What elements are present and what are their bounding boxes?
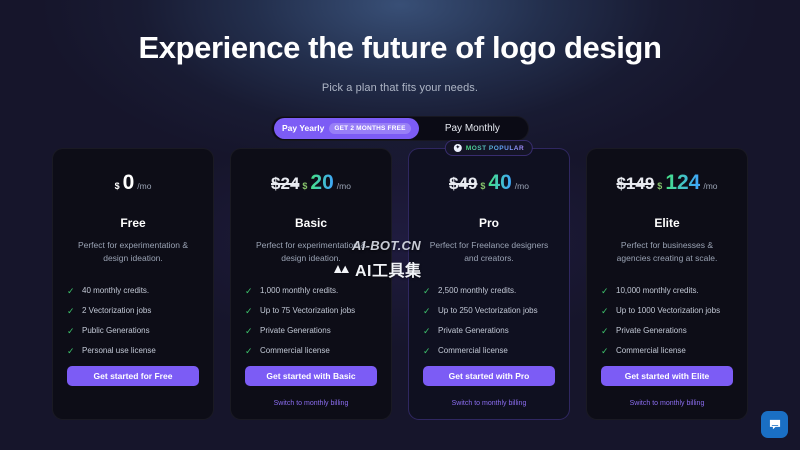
plan-description: Perfect for Freelance designers and crea… [423, 239, 555, 265]
feature-label: 1,000 monthly credits. [260, 286, 338, 295]
feature-list: ✓10,000 monthly credits.✓Up to 1000 Vect… [601, 286, 733, 355]
old-price: $149 [616, 174, 654, 194]
pricing-cards-container: $0/moFreePerfect for experimentation & d… [0, 148, 800, 420]
most-popular-badge: ✦MOST POPULAR [445, 140, 533, 156]
check-icon: ✓ [423, 327, 431, 335]
feature-list: ✓1,000 monthly credits.✓Up to 75 Vectori… [245, 286, 377, 355]
price-row: $0/mo [67, 171, 199, 199]
toggle-pay-yearly[interactable]: Pay Yearly GET 2 MONTHS FREE [274, 118, 419, 139]
toggle-yearly-label: Pay Yearly [282, 123, 324, 133]
hero-section: Experience the future of logo design Pic… [0, 0, 800, 141]
get-started-button[interactable]: Get started with Pro [423, 366, 555, 386]
price-period: /mo [137, 181, 151, 191]
check-icon: ✓ [67, 327, 75, 335]
check-icon: ✓ [245, 287, 253, 295]
feature-item: ✓Commercial license [423, 346, 555, 355]
feature-label: Up to 1000 Vectorization jobs [616, 306, 720, 315]
feature-item: ✓Up to 75 Vectorization jobs [245, 306, 377, 315]
feature-label: Personal use license [82, 346, 156, 355]
feature-label: Private Generations [616, 326, 687, 335]
plan-name: Basic [245, 216, 377, 230]
check-icon: ✓ [423, 347, 431, 355]
old-price: $49 [449, 174, 477, 194]
feature-list: ✓2,500 monthly credits.✓Up to 250 Vector… [423, 286, 555, 355]
feature-label: 2,500 monthly credits. [438, 286, 516, 295]
plan-name: Elite [601, 216, 733, 230]
check-icon: ✓ [423, 287, 431, 295]
chat-bubble-icon [768, 418, 782, 432]
yearly-discount-badge: GET 2 MONTHS FREE [329, 123, 410, 134]
plan-description: Perfect for experimentation & design ide… [245, 239, 377, 265]
page-title: Experience the future of logo design [0, 30, 800, 66]
current-price: 20 [310, 171, 333, 195]
get-started-button[interactable]: Get started for Free [67, 366, 199, 386]
check-icon: ✓ [245, 347, 253, 355]
feature-item: ✓2 Vectorization jobs [67, 306, 199, 315]
feature-item: ✓10,000 monthly credits. [601, 286, 733, 295]
feature-item: ✓40 monthly credits. [67, 286, 199, 295]
check-icon: ✓ [423, 307, 431, 315]
feature-item: ✓Private Generations [601, 326, 733, 335]
price-period: /mo [515, 181, 529, 191]
feature-item: ✓Private Generations [245, 326, 377, 335]
feature-label: 10,000 monthly credits. [616, 286, 699, 295]
feature-item: ✓1,000 monthly credits. [245, 286, 377, 295]
pricing-page: Experience the future of logo design Pic… [0, 0, 800, 450]
feature-item: ✓Commercial license [601, 346, 733, 355]
billing-period-toggle[interactable]: Pay Yearly GET 2 MONTHS FREE Pay Monthly [271, 116, 529, 141]
get-started-button[interactable]: Get started with Basic [245, 366, 377, 386]
check-icon: ✓ [67, 347, 75, 355]
feature-item: ✓2,500 monthly credits. [423, 286, 555, 295]
feature-item: ✓Commercial license [245, 346, 377, 355]
pricing-card-pro: ✦MOST POPULAR$49$40/moProPerfect for Fre… [408, 148, 570, 420]
check-icon: ✓ [601, 307, 609, 315]
check-icon: ✓ [67, 287, 75, 295]
price-row: $149$124/mo [601, 171, 733, 199]
switch-billing-link[interactable]: Switch to monthly billing [245, 400, 377, 407]
currency-symbol: $ [480, 181, 485, 191]
get-started-button[interactable]: Get started with Elite [601, 366, 733, 386]
switch-billing-link[interactable]: Switch to monthly billing [423, 400, 555, 407]
feature-label: Private Generations [438, 326, 509, 335]
feature-label: Up to 250 Vectorization jobs [438, 306, 538, 315]
feature-label: 2 Vectorization jobs [82, 306, 151, 315]
feature-item: ✓Personal use license [67, 346, 199, 355]
feature-label: Commercial license [616, 346, 686, 355]
plan-description: Perfect for experimentation & design ide… [67, 239, 199, 265]
feature-label: 40 monthly credits. [82, 286, 149, 295]
feature-label: Commercial license [438, 346, 508, 355]
currency-symbol: $ [657, 181, 662, 191]
feature-label: Up to 75 Vectorization jobs [260, 306, 355, 315]
feature-label: Commercial license [260, 346, 330, 355]
check-icon: ✓ [601, 287, 609, 295]
feature-label: Public Generations [82, 326, 150, 335]
check-icon: ✓ [67, 307, 75, 315]
most-popular-label: MOST POPULAR [466, 145, 524, 152]
check-icon: ✓ [245, 307, 253, 315]
pricing-card-free: $0/moFreePerfect for experimentation & d… [52, 148, 214, 420]
toggle-pay-monthly[interactable]: Pay Monthly [419, 118, 526, 139]
current-price: 124 [665, 171, 700, 195]
feature-item: ✓Up to 250 Vectorization jobs [423, 306, 555, 315]
plan-description: Perfect for businesses & agencies creati… [601, 239, 733, 265]
page-subtitle: Pick a plan that fits your needs. [0, 82, 800, 94]
chat-widget-button[interactable] [761, 411, 788, 438]
currency-symbol: $ [115, 181, 120, 191]
plan-name: Pro [423, 216, 555, 230]
current-price: 0 [123, 171, 135, 195]
old-price: $24 [271, 174, 299, 194]
feature-list: ✓40 monthly credits.✓2 Vectorization job… [67, 286, 199, 355]
feature-item: ✓Private Generations [423, 326, 555, 335]
feature-item: ✓Up to 1000 Vectorization jobs [601, 306, 733, 315]
sparkle-icon: ✦ [454, 144, 462, 152]
price-period: /mo [337, 181, 351, 191]
pricing-card-elite: $149$124/moElitePerfect for businesses &… [586, 148, 748, 420]
feature-label: Private Generations [260, 326, 331, 335]
price-row: $49$40/mo [423, 171, 555, 199]
check-icon: ✓ [601, 347, 609, 355]
pricing-card-basic: $24$20/moBasicPerfect for experimentatio… [230, 148, 392, 420]
price-period: /mo [703, 181, 717, 191]
current-price: 40 [488, 171, 511, 195]
plan-name: Free [67, 216, 199, 230]
check-icon: ✓ [601, 327, 609, 335]
feature-item: ✓Public Generations [67, 326, 199, 335]
switch-billing-link[interactable]: Switch to monthly billing [601, 400, 733, 407]
currency-symbol: $ [302, 181, 307, 191]
price-row: $24$20/mo [245, 171, 377, 199]
check-icon: ✓ [245, 327, 253, 335]
